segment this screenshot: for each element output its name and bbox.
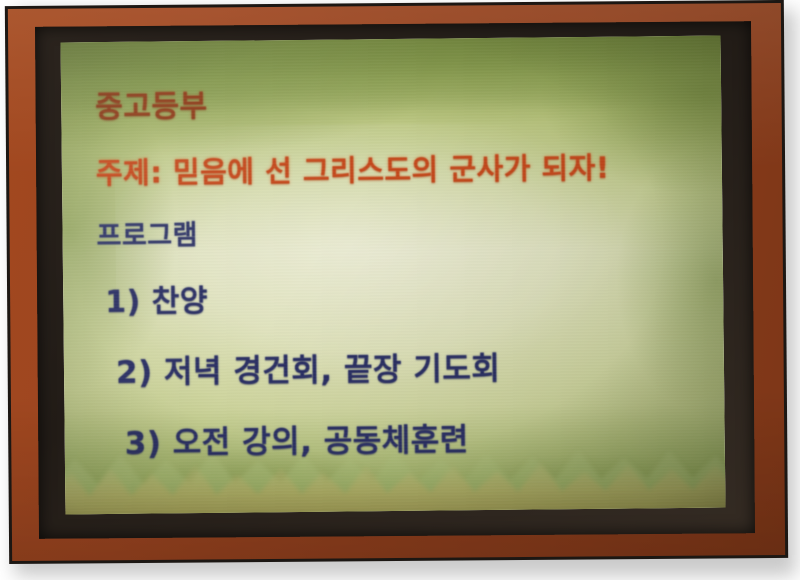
slide-title: 중고등부	[95, 76, 703, 126]
projection-slide: 중고등부 주제: 믿음에 선 그리스도의 군사가 되자! 프로그램 1) 찬양 …	[61, 36, 726, 515]
slide-section-heading-program: 프로그램	[96, 208, 704, 253]
slide-subtitle-theme: 주제: 믿음에 선 그리스도의 군사가 되자!	[96, 144, 704, 192]
program-item-3: 3) 오전 강의, 공동체훈련	[124, 412, 706, 463]
program-item-2: 2) 저녁 경건회, 끝장 기도회	[116, 341, 706, 392]
photo-canvas: 중고등부 주제: 믿음에 선 그리스도의 군사가 되자! 프로그램 1) 찬양 …	[0, 0, 800, 580]
program-item-1: 1) 찬양	[105, 271, 705, 321]
slide-text-content: 중고등부 주제: 믿음에 선 그리스도의 군사가 되자! 프로그램 1) 찬양 …	[61, 36, 726, 515]
